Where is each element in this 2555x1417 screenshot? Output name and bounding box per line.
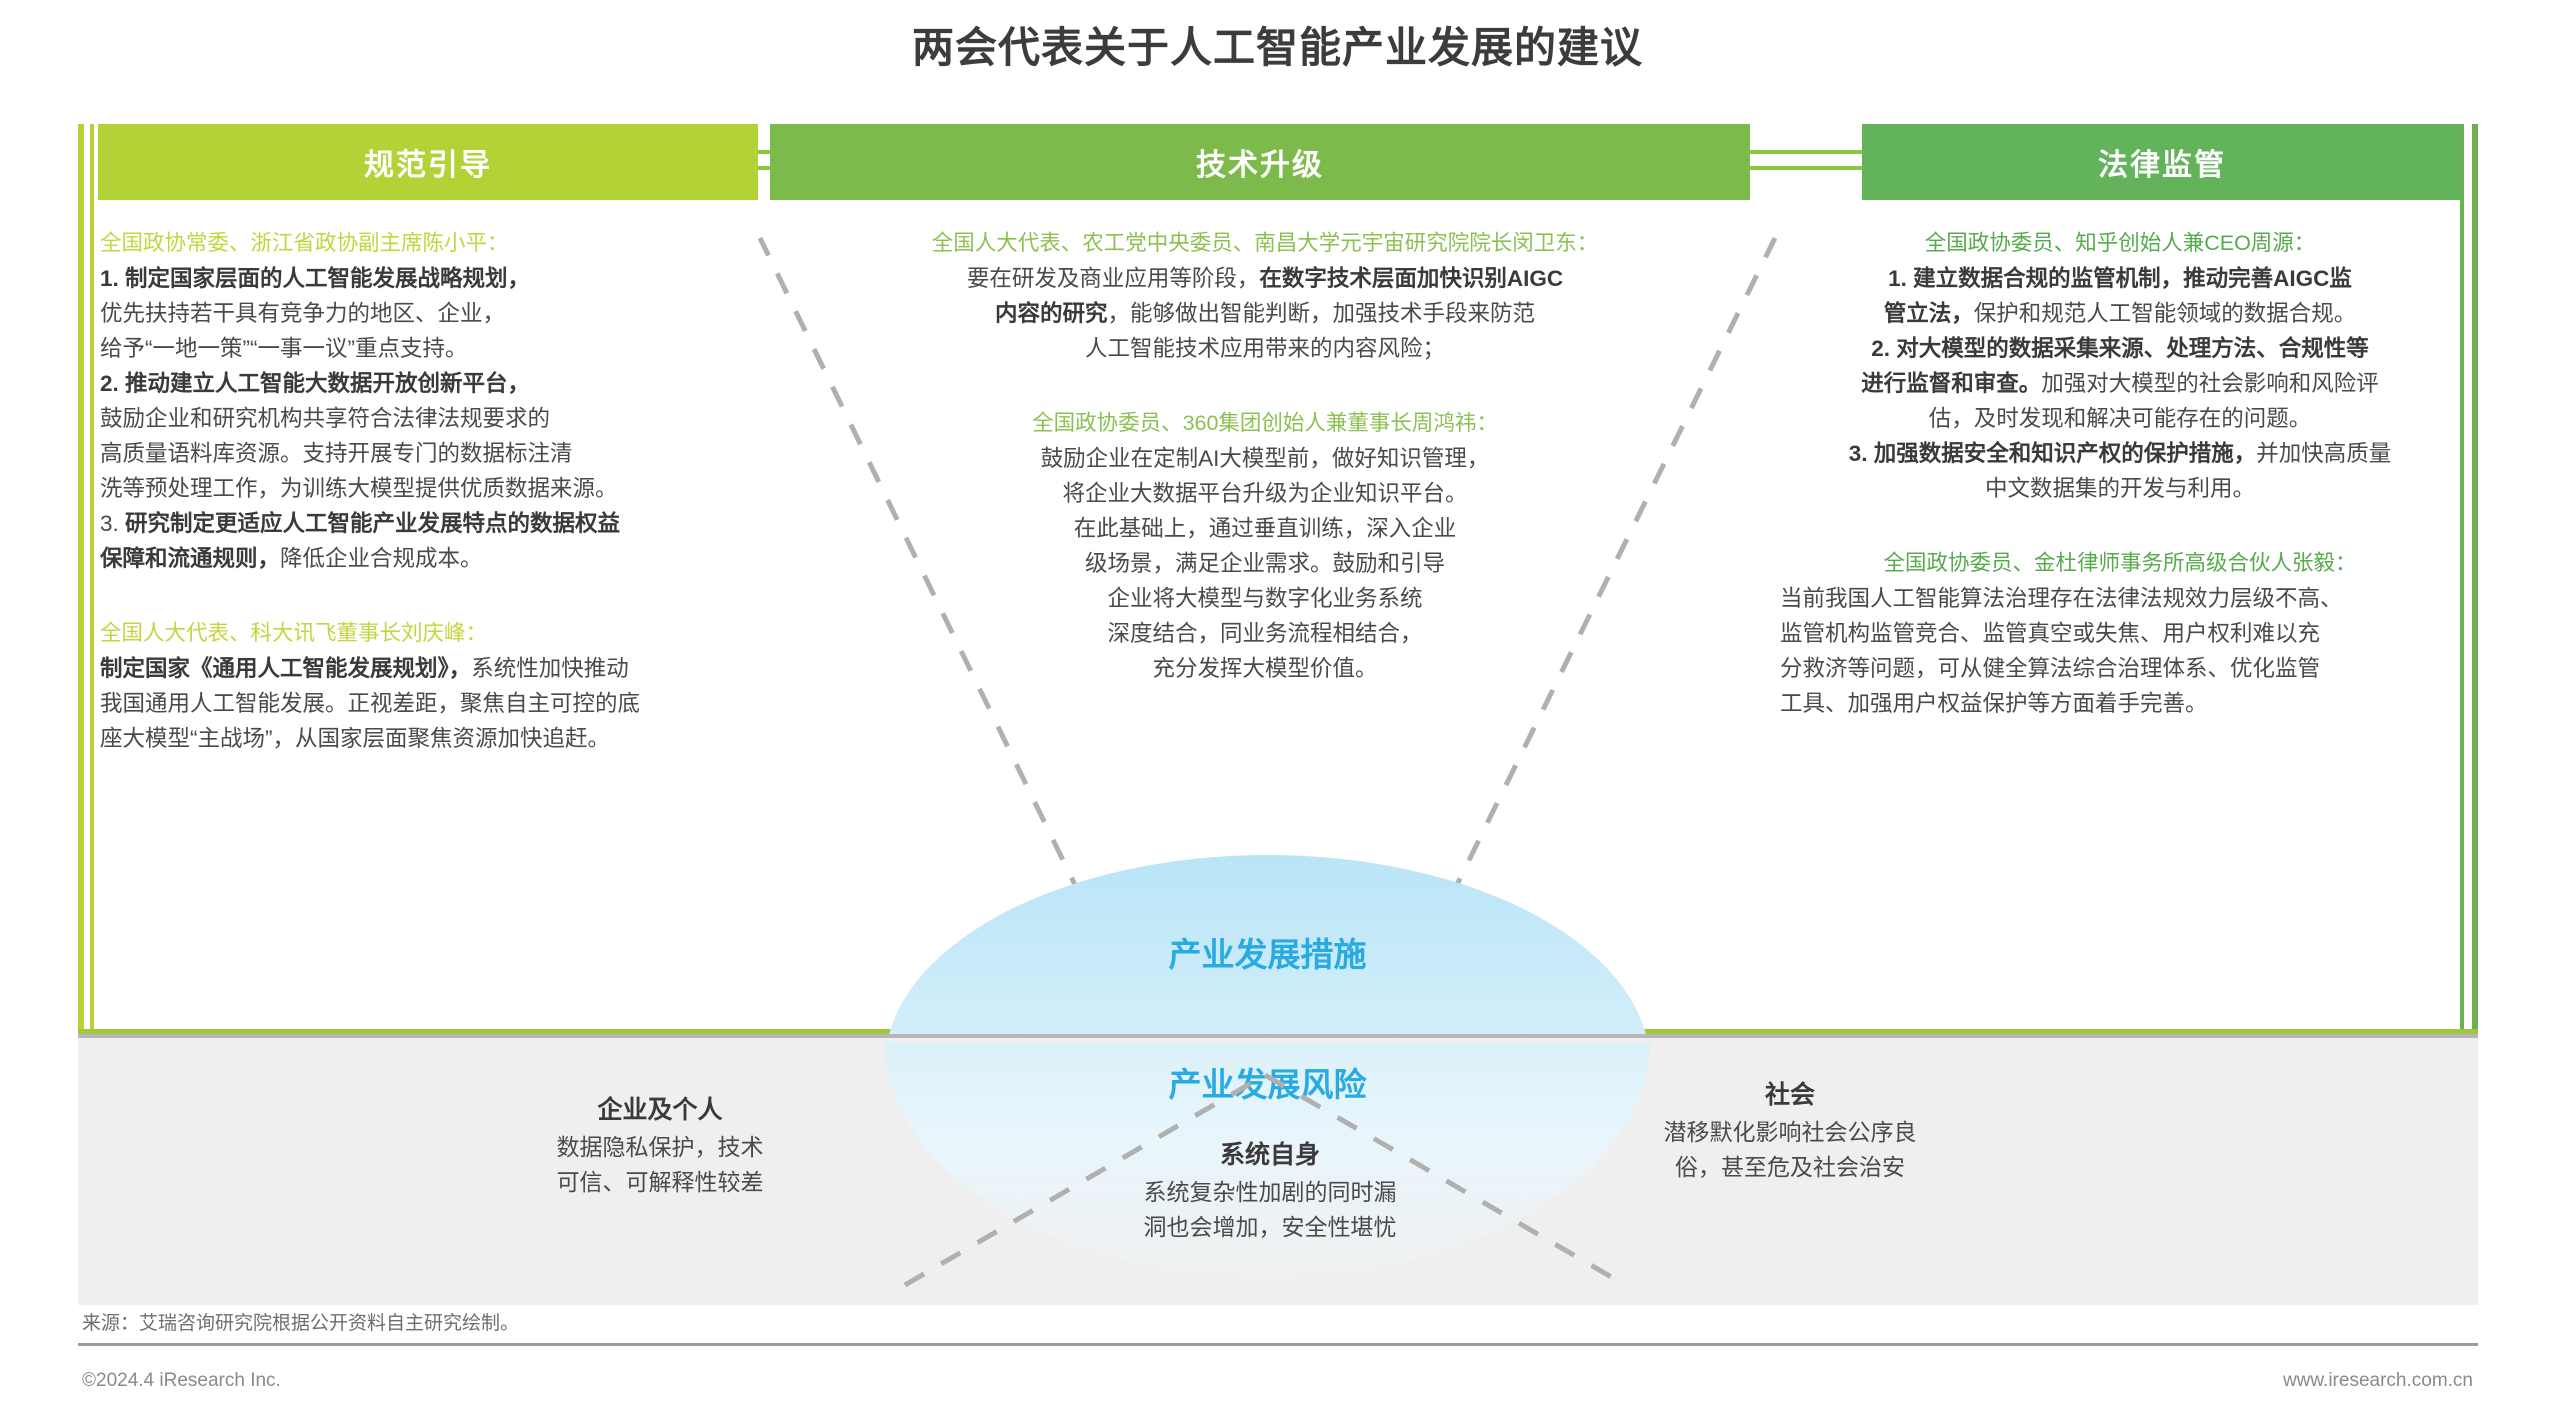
- tab-guidance[interactable]: 规范引导: [98, 124, 758, 200]
- speaker-name: 全国人大代表、农工党中央委员、南昌大学元宇宙研究院院长闵卫东：: [760, 228, 1770, 258]
- column-guidance: 全国政协常委、浙江省政协副主席陈小平： 1. 制定国家层面的人工智能发展战略规划…: [100, 228, 748, 764]
- risk-society: 社会 潜移默化影响社会公序良 俗，甚至危及社会治安: [1530, 1075, 2050, 1185]
- speaker-name: 全国政协常委、浙江省政协副主席陈小平：: [100, 228, 748, 258]
- risk-title: 社会: [1530, 1075, 2050, 1111]
- risk-text-line: 俗，甚至危及社会治安: [1675, 1154, 1905, 1180]
- page-title: 两会代表关于人工智能产业发展的建议: [0, 14, 2555, 75]
- entry-body: 当前我国人工智能算法治理存在法律法规效力层级不高、 监管机构监管竞合、监管真空或…: [1780, 581, 2460, 721]
- speaker-name: 全国政协委员、360集团创始人兼董事长周鸿祎：: [760, 408, 1770, 438]
- column-legal: 全国政协委员、知乎创始人兼CEO周源： 1. 建立数据合规的监管机制，推动完善A…: [1780, 228, 2460, 729]
- tab-legal[interactable]: 法律监管: [1862, 124, 2462, 200]
- panel-divider: [78, 1034, 2478, 1038]
- risk-enterprise-individual: 企业及个人 数据隐私保护，技术 可信、可解释性较差: [450, 1090, 870, 1200]
- risk-system-itself: 系统自身 系统复杂性加剧的同时漏 洞也会增加，安全性堪忧: [1030, 1135, 1510, 1245]
- tab-connector-line: [1748, 166, 1868, 170]
- column-spacer: [760, 374, 1770, 408]
- website-link[interactable]: www.iresearch.com.cn: [2283, 1370, 2473, 1392]
- risk-text: 数据隐私保护，技术 可信、可解释性较差: [450, 1130, 870, 1200]
- copyright-text: ©2024.4 iResearch Inc.: [82, 1370, 281, 1392]
- speaker-name: 全国政协委员、金杜律师事务所高级合伙人张毅：: [1780, 548, 2460, 578]
- risk-text-line: 系统复杂性加剧的同时漏: [1144, 1179, 1397, 1205]
- column-spacer: [1780, 514, 2460, 548]
- risk-text-line: 数据隐私保护，技术: [557, 1134, 764, 1160]
- tab-technology-label: 技术升级: [1196, 140, 1324, 184]
- frame-right-accent: [2472, 124, 2478, 1034]
- footer-divider: [78, 1343, 2478, 1346]
- measures-label: 产业发展措施: [885, 928, 1650, 976]
- speaker-name: 全国人大代表、科大讯飞董事长刘庆峰：: [100, 618, 748, 648]
- frame-right-accent-inner: [2460, 124, 2464, 1034]
- entry-body: 鼓励企业在定制AI大模型前，做好知识管理， 将企业大数据平台升级为企业知识平台。…: [760, 441, 1770, 686]
- entry-chen-xiaoping: 全国政协常委、浙江省政协副主席陈小平： 1. 制定国家层面的人工智能发展战略规划…: [100, 228, 748, 576]
- speaker-name: 全国政协委员、知乎创始人兼CEO周源：: [1780, 228, 2460, 258]
- risk-text: 潜移默化影响社会公序良 俗，甚至危及社会治安: [1530, 1115, 2050, 1185]
- risk-title: 系统自身: [1030, 1135, 1510, 1171]
- infographic-page: 两会代表关于人工智能产业发展的建议 规范引导 技术升级 法律监管 产业发展措施 …: [0, 0, 2555, 1417]
- risk-text: 系统复杂性加剧的同时漏 洞也会增加，安全性堪忧: [1030, 1175, 1510, 1245]
- entry-body: 1. 建立数据合规的监管机制，推动完善AIGC监 管立法，保护和规范人工智能领域…: [1780, 261, 2460, 506]
- entry-zhou-yuan: 全国政协委员、知乎创始人兼CEO周源： 1. 建立数据合规的监管机制，推动完善A…: [1780, 228, 2460, 506]
- column-spacer: [100, 584, 748, 618]
- entry-zhang-yi: 全国政协委员、金杜律师事务所高级合伙人张毅： 当前我国人工智能算法治理存在法律法…: [1780, 548, 2460, 721]
- frame-left-accent: [78, 124, 84, 1034]
- source-note: 来源：艾瑞咨询研究院根据公开资料自主研究绘制。: [82, 1308, 519, 1335]
- tab-technology[interactable]: 技术升级: [770, 124, 1750, 200]
- entry-min-weidong: 全国人大代表、农工党中央委员、南昌大学元宇宙研究院院长闵卫东： 要在研发及商业应…: [760, 228, 1770, 366]
- column-technology: 全国人大代表、农工党中央委员、南昌大学元宇宙研究院院长闵卫东： 要在研发及商业应…: [760, 228, 1770, 694]
- entry-body: 要在研发及商业应用等阶段，在数字技术层面加快识别AIGC 内容的研究，能够做出智…: [760, 261, 1770, 366]
- risk-text-line: 洞也会增加，安全性堪忧: [1144, 1214, 1397, 1240]
- frame-left-accent-inner: [90, 124, 94, 1034]
- entry-body: 制定国家《通用人工智能发展规划》，系统性加快推动 我国通用人工智能发展。正视差距…: [100, 651, 748, 756]
- risk-title: 企业及个人: [450, 1090, 870, 1126]
- entry-body: 1. 制定国家层面的人工智能发展战略规划， 优先扶持若干具有竞争力的地区、企业，…: [100, 261, 748, 576]
- risk-text-line: 可信、可解释性较差: [557, 1169, 764, 1195]
- risk-text-line: 潜移默化影响社会公序良: [1664, 1119, 1917, 1145]
- tab-guidance-label: 规范引导: [364, 140, 492, 184]
- entry-zhou-hongyi: 全国政协委员、360集团创始人兼董事长周鸿祎： 鼓励企业在定制AI大模型前，做好…: [760, 408, 1770, 686]
- entry-liu-qingfeng: 全国人大代表、科大讯飞董事长刘庆峰： 制定国家《通用人工智能发展规划》，系统性加…: [100, 618, 748, 756]
- tab-legal-label: 法律监管: [2098, 140, 2226, 184]
- tab-connector-line: [1748, 150, 1868, 154]
